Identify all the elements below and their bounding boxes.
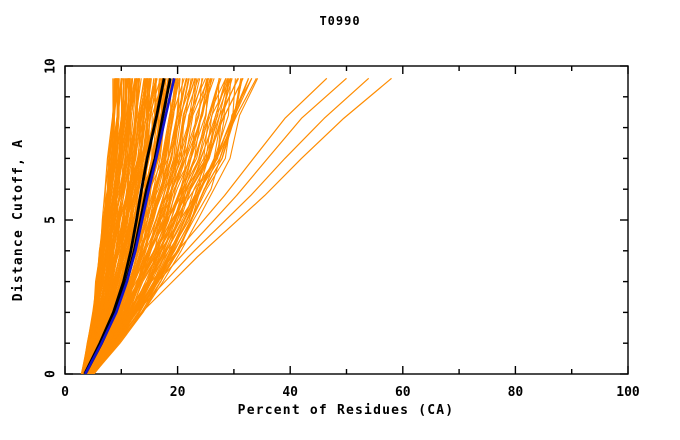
x-tick-label: 0: [61, 385, 69, 400]
x-axis-title: Percent of Residues (CA): [238, 403, 455, 418]
x-tick-label: 100: [616, 385, 640, 400]
x-axis-tick-labels: 020406080100: [61, 385, 640, 400]
y-axis-tick-labels: 0510: [44, 58, 59, 378]
y-tick-label: 0: [44, 370, 59, 378]
plot-canvas: 020406080100 0510 Percent of Residues (C…: [0, 0, 680, 440]
x-tick-label: 60: [395, 385, 411, 400]
data-series-layer: [81, 78, 391, 374]
x-tick-label: 40: [282, 385, 298, 400]
x-tick-label: 20: [170, 385, 186, 400]
y-axis-title: Distance Cutoff, A: [11, 139, 26, 301]
x-tick-label: 80: [508, 385, 524, 400]
chart-figure: T0990 020406080100 0510 Percent of Resid…: [0, 0, 680, 440]
y-tick-label: 5: [44, 216, 59, 224]
y-tick-label: 10: [44, 58, 59, 74]
